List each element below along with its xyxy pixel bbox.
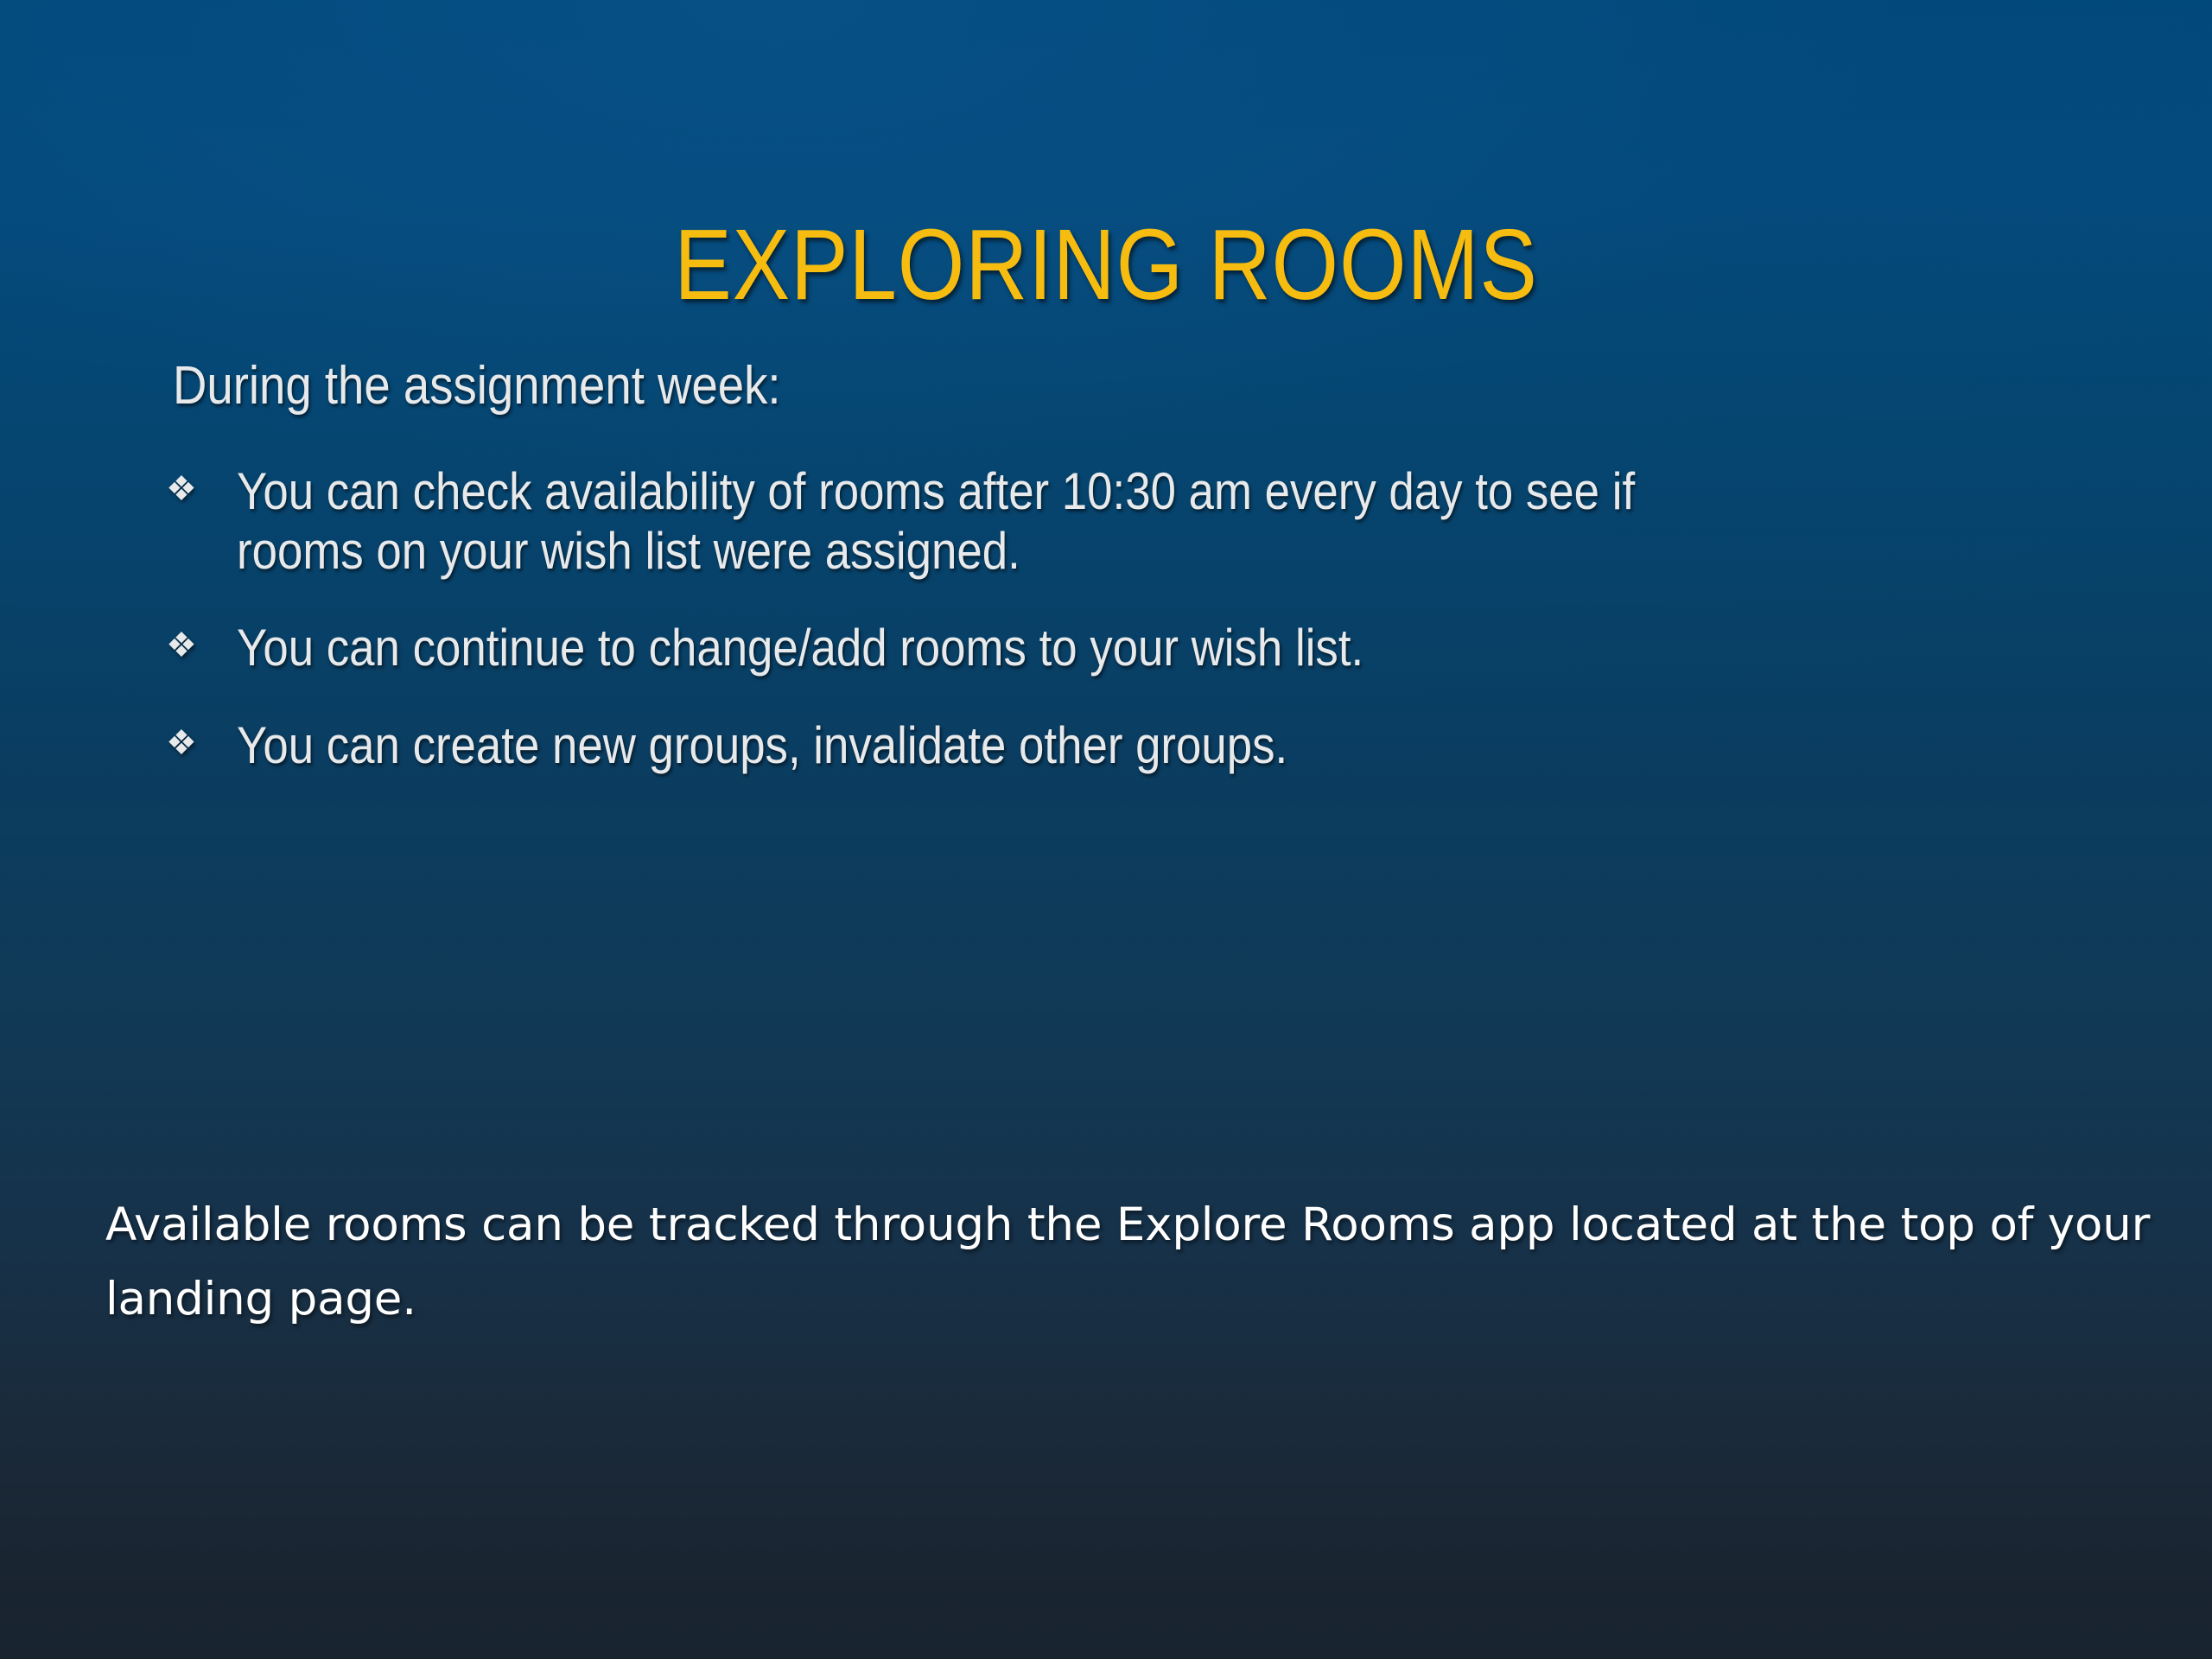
footer-note: Available rooms can be tracked through t… [105, 1188, 2162, 1337]
page-title: EXPLORING ROOMS [155, 213, 2057, 318]
slide-body: During the assignment week: ❖ You can ch… [164, 356, 2100, 775]
list-item: ❖ You can create new groups, invalidate … [164, 716, 2100, 775]
list-item-label: You can check availability of rooms afte… [237, 462, 1666, 581]
diamond-bullet-icon: ❖ [164, 619, 237, 672]
bullet-list: ❖ You can check availability of rooms af… [164, 462, 2100, 775]
diamond-bullet-icon: ❖ [164, 462, 237, 516]
diamond-bullet-icon: ❖ [164, 716, 237, 770]
list-item: ❖ You can continue to change/add rooms t… [164, 619, 2100, 677]
list-item-label: You can create new groups, invalidate ot… [237, 716, 1666, 775]
intro-line: During the assignment week: [173, 356, 1868, 416]
list-item-label: You can continue to change/add rooms to … [237, 619, 1666, 677]
presentation-slide: EXPLORING ROOMS During the assignment we… [0, 0, 2212, 1659]
list-item: ❖ You can check availability of rooms af… [164, 462, 2100, 581]
